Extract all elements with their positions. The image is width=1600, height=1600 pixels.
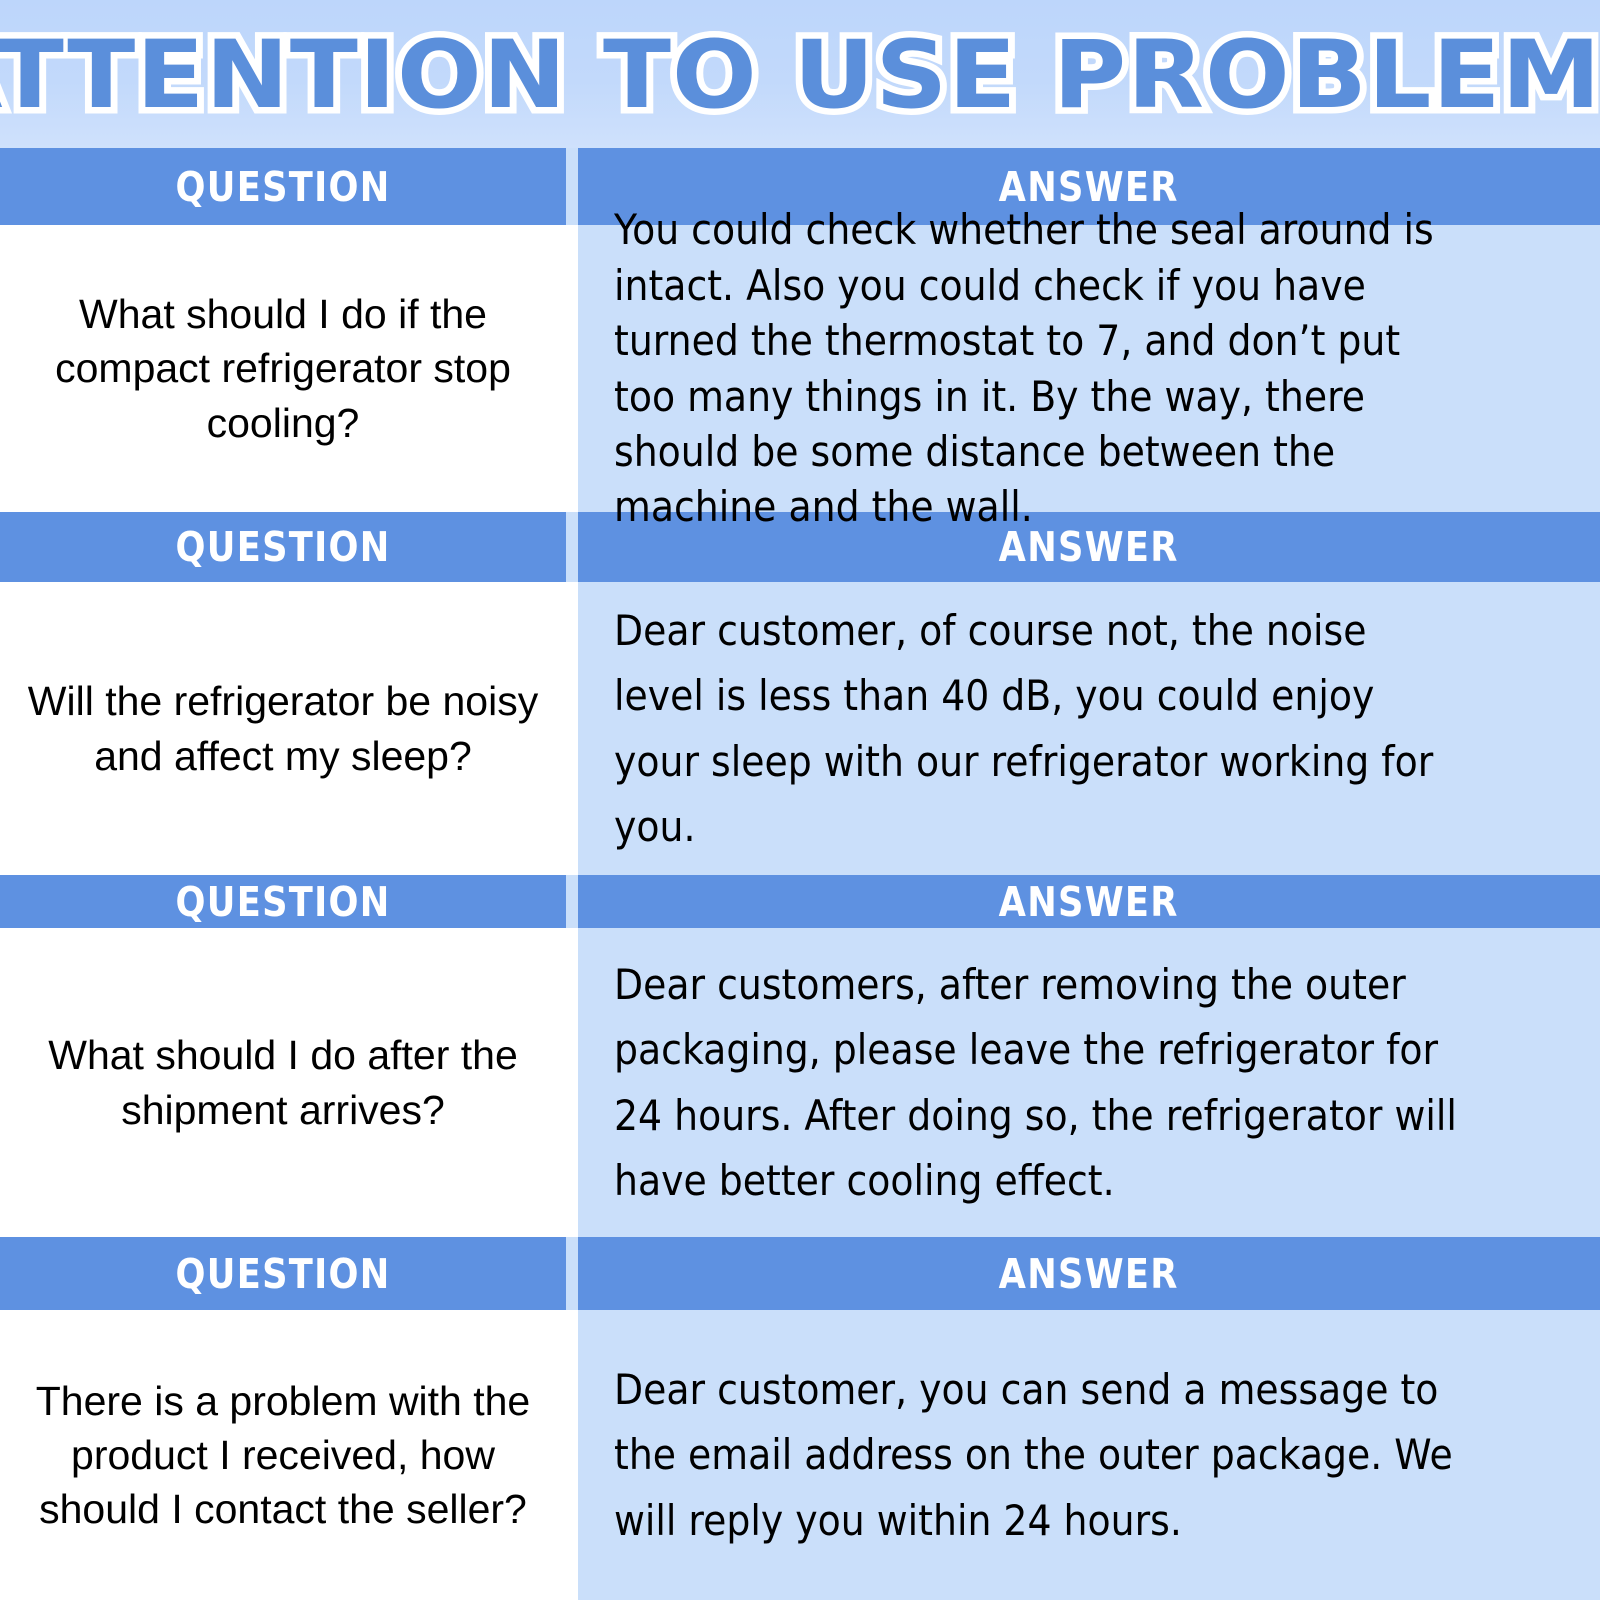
row-divider-1	[566, 225, 578, 512]
column-header-row-3: QUESTION ANSWER	[0, 875, 1600, 928]
faq-row: There is a problem with the product I re…	[0, 1310, 1600, 1600]
question-header-4: QUESTION	[0, 1237, 566, 1310]
column-divider-3	[566, 875, 578, 928]
question-text: What should I do after the shipment arri…	[26, 1028, 540, 1136]
column-divider-2	[566, 512, 578, 582]
answer-text: Dear customers, after removing the outer…	[614, 952, 1465, 1212]
question-cell-2: Will the refrigerator be noisy and affec…	[0, 582, 566, 875]
question-cell-1: What should I do if the compact refriger…	[0, 225, 566, 512]
question-header-label: QUESTION	[175, 163, 390, 211]
answer-header-label: ANSWER	[999, 1250, 1179, 1298]
question-cell-4: There is a problem with the product I re…	[0, 1310, 566, 1600]
faq-row: What should I do after the shipment arri…	[0, 928, 1600, 1237]
row-divider-3	[566, 928, 578, 1237]
question-text: There is a problem with the product I re…	[26, 1374, 540, 1536]
answer-header-label: ANSWER	[999, 523, 1179, 571]
answer-text: Dear customer, of course not, the noise …	[614, 598, 1465, 858]
answer-header-3: ANSWER	[578, 875, 1600, 928]
answer-text: You could check whether the seal around …	[614, 202, 1465, 535]
answer-text: Dear customer, you can send a message to…	[614, 1357, 1465, 1552]
question-header-label: QUESTION	[175, 1250, 390, 1298]
answer-cell-1: You could check whether the seal around …	[578, 225, 1600, 512]
question-text: What should I do if the compact refriger…	[26, 287, 540, 449]
answer-cell-2: Dear customer, of course not, the noise …	[578, 582, 1600, 875]
question-cell-3: What should I do after the shipment arri…	[0, 928, 566, 1237]
title-banner: ATTENTION TO USE PROBLEMS	[0, 0, 1600, 148]
answer-cell-3: Dear customers, after removing the outer…	[578, 928, 1600, 1237]
faq-row: What should I do if the compact refriger…	[0, 225, 1600, 512]
question-header-2: QUESTION	[0, 512, 566, 582]
question-text: Will the refrigerator be noisy and affec…	[26, 674, 540, 782]
answer-cell-4: Dear customer, you can send a message to…	[578, 1310, 1600, 1600]
column-header-row-4: QUESTION ANSWER	[0, 1237, 1600, 1310]
column-divider-4	[566, 1237, 578, 1310]
question-header-label: QUESTION	[175, 878, 390, 926]
row-divider-4	[566, 1310, 578, 1600]
row-divider-2	[566, 582, 578, 875]
faq-row: Will the refrigerator be noisy and affec…	[0, 582, 1600, 875]
question-header-3: QUESTION	[0, 875, 566, 928]
page-title: ATTENTION TO USE PROBLEMS	[0, 29, 1600, 123]
faq-table: QUESTION ANSWER What should I do if the …	[0, 148, 1600, 1600]
answer-header-4: ANSWER	[578, 1237, 1600, 1310]
column-divider-1	[566, 148, 578, 225]
faq-infographic: ATTENTION TO USE PROBLEMS QUESTION ANSWE…	[0, 0, 1600, 1600]
question-header-label: QUESTION	[175, 523, 390, 571]
answer-header-label: ANSWER	[999, 878, 1179, 926]
question-header-1: QUESTION	[0, 148, 566, 225]
